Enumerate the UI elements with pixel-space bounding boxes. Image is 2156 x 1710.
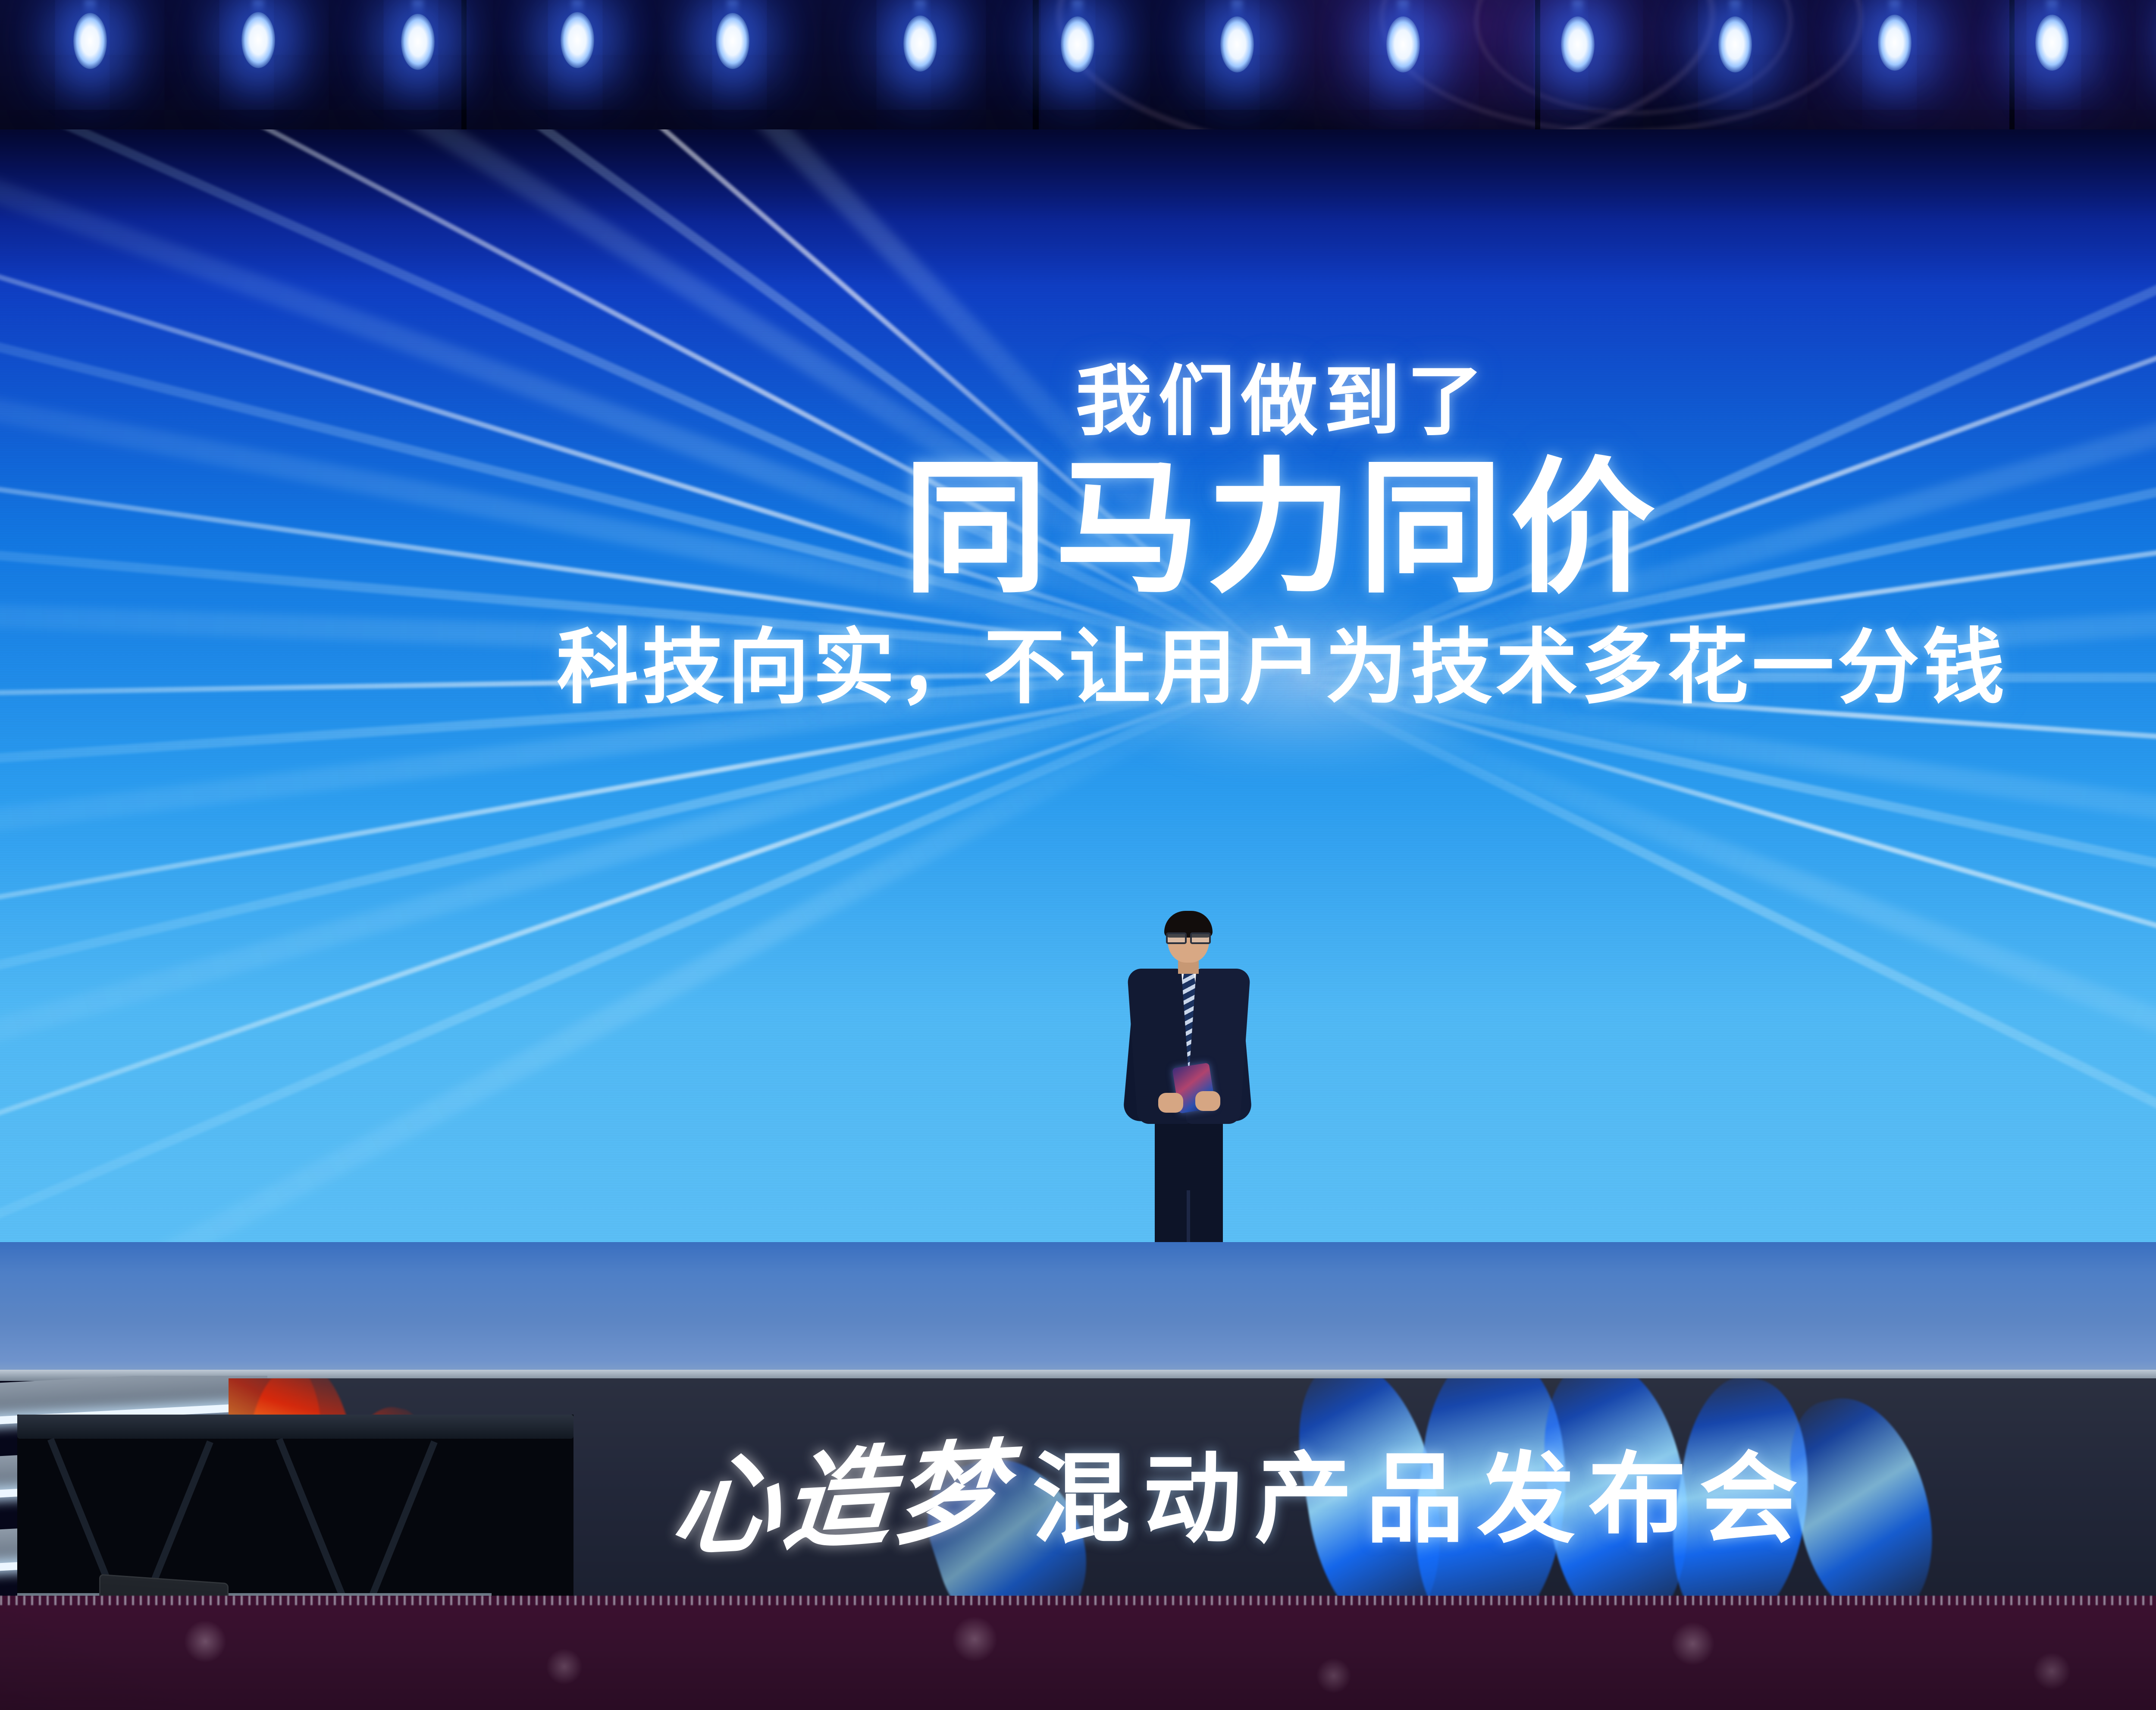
stage-light <box>1878 15 1912 71</box>
truss-bar-vertical <box>1535 0 1540 138</box>
banner-main-text: 混动产品发布会 <box>1032 1419 1811 1562</box>
truss-top-cap <box>17 1415 573 1439</box>
stage-light <box>401 14 435 70</box>
carpet-fringe <box>0 1596 2156 1605</box>
presentation-slide-text: 我们做到了 同马力同价 科技向实，不让用户为技术多花一分钱 <box>0 129 2156 713</box>
stage-light <box>1561 16 1595 72</box>
truss-bar-vertical <box>461 0 467 138</box>
stage-light <box>903 16 937 72</box>
stage-light <box>241 12 275 68</box>
stage-light <box>1386 16 1420 72</box>
presenter-hand-right <box>1195 1091 1220 1111</box>
stage-light <box>1718 16 1752 72</box>
presenter-hand-left <box>1158 1093 1183 1113</box>
stage-light <box>716 13 749 69</box>
glasses-icon <box>1166 932 1211 941</box>
slide-kicker: 我们做到了 <box>0 129 2156 442</box>
stage-light <box>561 12 594 68</box>
stage-light <box>1061 16 1094 72</box>
venue-carpet <box>0 1596 2156 1710</box>
truss-bar-vertical <box>1033 0 1039 138</box>
stage-light <box>1220 16 1254 72</box>
slide-headline: 同马力同价 <box>0 453 2156 604</box>
stage-light <box>73 13 107 69</box>
stage-light <box>2035 15 2069 71</box>
truss-bar-vertical <box>2009 0 2015 138</box>
stage-photo: 我们做到了 同马力同价 科技向实，不让用户为技术多花一分钱 <box>0 0 2156 1710</box>
banner-brush-text: 心造梦 <box>667 1403 1014 1578</box>
stage-deck <box>0 1242 2156 1380</box>
presenter-figure <box>1121 914 1255 1294</box>
slide-subline: 科技向实，不让用户为技术多花一分钱 <box>0 623 2156 713</box>
